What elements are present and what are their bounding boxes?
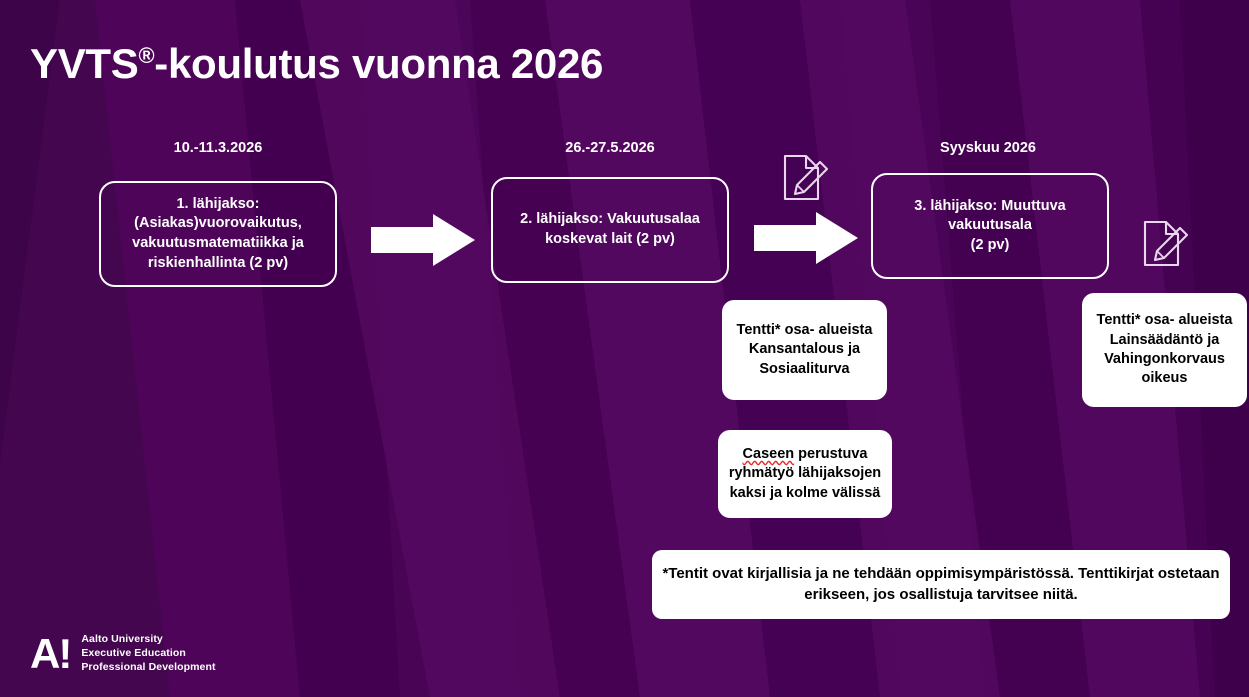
exam-right-line-3: Lainsäädäntö ja (1110, 332, 1220, 348)
exam-right-line-1: Tentti* osa- (1097, 312, 1175, 328)
registered-mark: ® (139, 43, 155, 68)
date-label-stage-1: 10.-11.3.2026 (174, 140, 263, 156)
exam-right-line-2: alueista (1178, 312, 1232, 328)
stage-1-line-2: (Asiakas)vuorovaikutus, (132, 214, 304, 234)
footnote-line-1: *Tentit ovat kirjallisia ja ne tehdään o… (662, 565, 1153, 582)
page-title-rest: -koulutus vuonna 2026 (154, 40, 603, 87)
page-title: YVTS®-koulutus vuonna 2026 (30, 40, 603, 88)
aalto-logo: A! Aalto University Executive Education … (30, 633, 216, 675)
stage-3-line-2: vakuutusala (914, 216, 1065, 236)
exam-left-line-4: Sosiaaliturva (759, 361, 849, 377)
arrow-stage1-to-stage2 (371, 214, 475, 266)
callout-exam-topics-left[interactable]: Tentti* osa- alueista Kansantalous ja So… (722, 300, 887, 400)
stage-3-line-1: 3. lähijakso: Muuttuva (914, 197, 1065, 217)
aalto-logo-line-2: Executive Education (81, 647, 215, 661)
aalto-logo-mark: A! (30, 636, 70, 672)
stage-1-line-1: 1. lähijakso: (132, 195, 304, 215)
exam-right-line-4: Vahingonkorvaus (1104, 351, 1225, 367)
exam-left-line-2: alueista (818, 322, 872, 338)
group-work-line-1: Caseen perustuva (743, 446, 868, 462)
date-label-stage-3: Syyskuu 2026 (940, 140, 1036, 156)
stage-2-line-1: 2. lähijakso: Vakuutusalaa (520, 210, 700, 230)
exam-left-line-3: Kansantalous ja (749, 341, 860, 357)
stage-1-line-4: riskienhallinta (2 pv) (132, 254, 304, 274)
group-work-line-2: ryhmätyö (729, 465, 794, 481)
stage-box-2[interactable]: 2. lähijakso: Vakuutusalaa koskevat lait… (491, 177, 729, 283)
document-pencil-icon-1 (780, 153, 832, 203)
callout-group-work[interactable]: Caseen perustuva ryhmätyö lähijaksojen k… (718, 430, 892, 518)
aalto-logo-line-3: Professional Development (81, 661, 215, 675)
stage-3-line-3: (2 pv) (914, 236, 1065, 256)
document-pencil-icon-2 (1140, 219, 1192, 269)
stage-box-3[interactable]: 3. lähijakso: Muuttuva vakuutusala (2 pv… (871, 173, 1109, 279)
stage-1-line-3: vakuutusmatematiikka ja (132, 234, 304, 254)
exam-left-line-1: Tentti* osa- (737, 322, 815, 338)
arrow-stage2-to-stage3 (754, 212, 858, 264)
exam-right-line-5: oikeus (1142, 370, 1188, 386)
stage-box-1[interactable]: 1. lähijakso: (Asiakas)vuorovaikutus, va… (99, 181, 337, 287)
callout-footnote[interactable]: *Tentit ovat kirjallisia ja ne tehdään o… (652, 550, 1230, 619)
slide-canvas: YVTS®-koulutus vuonna 2026 10.-11.3.2026… (0, 0, 1249, 697)
aalto-logo-wordmark: Aalto University Executive Education Pro… (81, 633, 215, 675)
group-work-line-4: ja kolme välissä (770, 485, 880, 501)
group-work-line-1-rest: perustuva (794, 446, 867, 462)
slide-content: YVTS®-koulutus vuonna 2026 10.-11.3.2026… (0, 0, 1249, 697)
aalto-logo-line-1: Aalto University (81, 633, 215, 647)
page-title-main: YVTS (30, 40, 139, 87)
callout-exam-topics-right[interactable]: Tentti* osa- alueista Lainsäädäntö ja Va… (1082, 293, 1247, 407)
stage-2-line-2: koskevat lait (2 pv) (520, 230, 700, 250)
misspelled-word: Caseen (743, 446, 795, 462)
date-label-stage-2: 26.-27.5.2026 (565, 140, 655, 156)
